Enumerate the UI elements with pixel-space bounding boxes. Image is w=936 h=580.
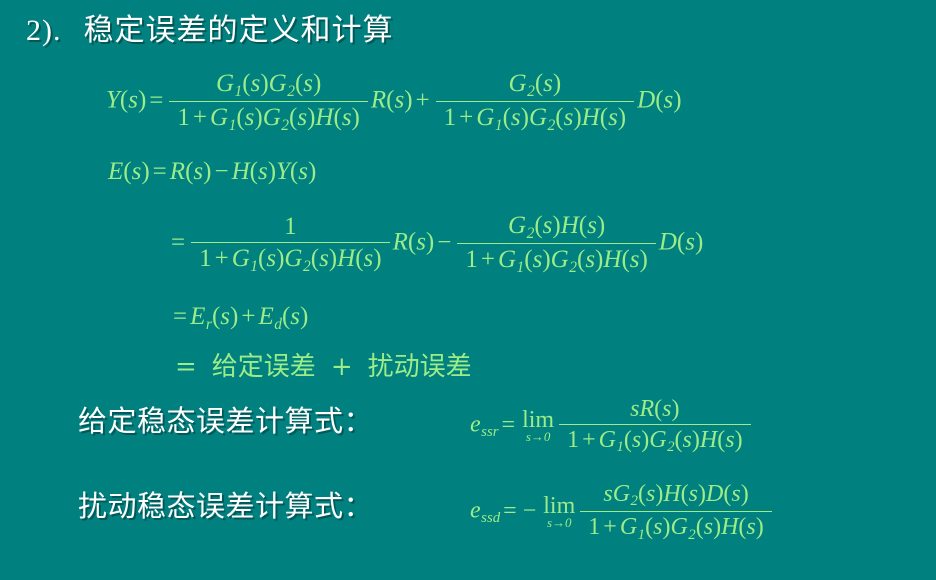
lparen: ( <box>638 481 646 507</box>
g-glyph: G <box>649 427 666 453</box>
eq1-fraction-2: G2(s)1+G1(s)G2(s)H(s) <box>436 70 634 134</box>
eq4-Er: E <box>190 303 205 330</box>
rparen: ) <box>552 212 560 239</box>
rparen: ) <box>542 246 550 273</box>
rparen: ) <box>352 104 360 131</box>
eq3-equals: = <box>168 229 188 257</box>
h-glyph: H <box>315 104 333 131</box>
lparen: ( <box>534 212 542 239</box>
label-reference-steady-state-error: 给定稳态误差计算式： <box>78 398 373 440</box>
subscript-2: 2 <box>688 527 695 543</box>
eq2-E: E <box>108 158 123 185</box>
eq3-fraction-2: G2(s)H(s)1+G1(s)G2(s)H(s) <box>457 212 655 276</box>
subscript-d: d <box>274 316 282 333</box>
subscript-1: 1 <box>495 117 503 134</box>
eq3-D: D <box>659 229 677 256</box>
g-glyph: G <box>216 70 234 97</box>
h-glyph: H <box>561 212 579 239</box>
digit-one: 1 <box>588 514 600 540</box>
eq7-denominator: 1+G1(s)G2(s)H(s) <box>580 512 771 543</box>
s-glyph: s <box>364 245 374 272</box>
eq3-numerator-2: G2(s)H(s) <box>457 212 655 244</box>
eq1-fraction-1: G1(s)G2(s)1+G1(s)G2(s)H(s) <box>169 70 367 134</box>
digit-one: 1 <box>177 104 190 131</box>
lparen: ( <box>681 481 689 507</box>
eq6-fraction: sR(s)1+G1(s)G2(s)H(s) <box>559 396 750 456</box>
equation-output-transfer: Y(s)=G1(s)G2(s)1+G1(s)G2(s)H(s)R(s)+G2(s… <box>106 70 682 134</box>
digit-one: 1 <box>444 104 457 131</box>
eq7-negative-sign: − <box>520 498 540 525</box>
s-glyph: s <box>662 396 671 422</box>
eq5-term-reference-error: 给定误差 <box>212 352 316 382</box>
eq7-e: e <box>470 498 481 524</box>
rparen: ) <box>692 427 700 453</box>
eq6-equals: = <box>499 412 519 439</box>
subscript-1: 1 <box>638 527 645 543</box>
eq1-denominator-2: 1+G1(s)G2(s)H(s) <box>436 102 634 134</box>
plus-sign: + <box>579 427 599 454</box>
rparen: ) <box>640 246 648 273</box>
rparen: ) <box>553 70 561 97</box>
rparen: ) <box>573 104 581 131</box>
eq6-e: e <box>470 412 481 438</box>
s-glyph: s <box>543 70 553 97</box>
rparen: ) <box>203 158 211 185</box>
eq2-Y: Y <box>276 158 290 185</box>
s-glyph: s <box>664 87 674 114</box>
lparen: ( <box>555 104 563 131</box>
s-glyph: s <box>394 87 404 114</box>
lparen: ( <box>621 246 629 273</box>
d-glyph: D <box>706 481 723 507</box>
g-glyph: G <box>508 212 526 239</box>
eq7-numerator: sG2(s)H(s)D(s) <box>580 481 771 512</box>
lparen: ( <box>579 212 587 239</box>
g-glyph: G <box>551 246 569 273</box>
equation-error-expanded: =11+G1(s)G2(s)H(s)R(s)−G2(s)H(s)1+G1(s)G… <box>168 212 703 276</box>
subscript-2: 2 <box>631 493 638 509</box>
s-glyph: s <box>731 481 740 507</box>
r-glyph: R <box>640 396 655 422</box>
eq7-limit-operator: lims→0 <box>543 494 575 530</box>
rparen: ) <box>404 87 412 114</box>
rparen: ) <box>300 303 308 330</box>
lparen: ( <box>236 104 244 131</box>
s-glyph: s <box>245 104 255 131</box>
h-glyph: H <box>337 245 355 272</box>
lparen: ( <box>408 229 416 256</box>
h-glyph: H <box>721 514 738 540</box>
s-glyph: s <box>632 427 641 453</box>
g-glyph: G <box>613 481 630 507</box>
lparen: ( <box>355 245 363 272</box>
eq1-s: s <box>128 87 138 114</box>
eq1-numerator-1: G1(s)G2(s) <box>169 70 367 102</box>
eq7-equals: = <box>500 498 520 525</box>
lparen: ( <box>242 70 250 97</box>
eq5-equals: = <box>172 352 200 382</box>
eq2-H: H <box>232 158 250 185</box>
eq4-plus: + <box>238 303 258 331</box>
s-glyph: s <box>630 246 640 273</box>
s-glyph: s <box>258 158 268 185</box>
rparen: ) <box>230 303 238 330</box>
s-glyph: s <box>298 158 308 185</box>
eq3-denominator-1: 1+G1(s)G2(s)H(s) <box>191 243 389 275</box>
eq3-denominator-2: 1+G1(s)G2(s)H(s) <box>457 244 655 276</box>
g-glyph: G <box>263 104 281 131</box>
lim-subscript: s→0 <box>543 517 575 530</box>
slide-canvas: 2).稳定误差的定义和计算 Y(s)=G1(s)G2(s)1+G1(s)G2(s… <box>0 0 936 580</box>
s-glyph: s <box>342 104 352 131</box>
rparen: ) <box>672 396 680 422</box>
s-glyph: s <box>725 427 734 453</box>
eq5-plus: + <box>328 352 356 382</box>
rparen: ) <box>673 87 681 114</box>
lparen: ( <box>250 158 258 185</box>
eq1-numerator-2: G2(s) <box>436 70 634 102</box>
lparen: ( <box>677 229 685 256</box>
rparen: ) <box>373 245 381 272</box>
lparen: ( <box>311 245 319 272</box>
digit-one: 1 <box>465 246 478 273</box>
h-glyph: H <box>663 481 680 507</box>
subscript-2: 2 <box>527 83 535 100</box>
g-glyph: G <box>210 104 228 131</box>
eq1-R: R <box>371 87 386 114</box>
lparen: ( <box>535 70 543 97</box>
eq3-R: R <box>393 229 408 256</box>
lim-subscript: s→0 <box>522 431 554 444</box>
lparen: ( <box>333 104 341 131</box>
rparen: ) <box>254 104 262 131</box>
eq7-fraction: sG2(s)H(s)D(s)1+G1(s)G2(s)H(s) <box>580 481 771 543</box>
s-glyph: s <box>564 104 574 131</box>
g-glyph: G <box>599 427 616 453</box>
equation-essr: essr=lims→0sR(s)1+G1(s)G2(s)H(s) <box>470 396 754 456</box>
subscript-2: 2 <box>569 259 577 276</box>
eq6-denominator: 1+G1(s)G2(s)H(s) <box>559 425 750 456</box>
subscript-2: 2 <box>303 258 311 275</box>
s-glyph: s <box>646 481 655 507</box>
s-glyph: s <box>683 427 692 453</box>
s-glyph: s <box>290 303 300 330</box>
equation-error-definition: E(s)=R(s)−H(s)Y(s) <box>108 158 316 186</box>
equation-error-sum-chinese: =给定误差+扰动误差 <box>172 346 472 383</box>
s-glyph: s <box>603 481 612 507</box>
eq1-D: D <box>637 87 655 114</box>
digit-one: 1 <box>199 245 212 272</box>
subscript-1: 1 <box>250 258 258 275</box>
g-glyph: G <box>232 245 250 272</box>
eq1-denominator-1: 1+G1(s)G2(s)H(s) <box>169 102 367 134</box>
rparen: ) <box>141 158 149 185</box>
s-glyph: s <box>585 246 595 273</box>
eq5-term-disturbance-error: 扰动误差 <box>368 352 472 382</box>
rparen: ) <box>521 104 529 131</box>
eq3-minus: − <box>434 229 454 257</box>
lparen: ( <box>675 427 683 453</box>
rparen: ) <box>308 158 316 185</box>
rparen: ) <box>695 229 703 256</box>
eq6-limit-operator: lims→0 <box>522 408 554 444</box>
plus-sign: + <box>456 104 476 132</box>
s-glyph: s <box>303 70 313 97</box>
eq2-R: R <box>170 158 185 185</box>
s-glyph: s <box>746 514 755 540</box>
g-glyph: G <box>670 514 687 540</box>
h-glyph: H <box>700 427 717 453</box>
rparen: ) <box>329 245 337 272</box>
subscript-ssr: ssr <box>481 424 498 440</box>
label-disturbance-steady-state-error: 扰动稳态误差计算式： <box>78 483 373 525</box>
plus-sign: + <box>600 514 620 541</box>
rparen: ) <box>756 514 764 540</box>
lparen: ( <box>655 87 663 114</box>
eq1-lhs-Y: Y <box>106 87 120 114</box>
lparen: ( <box>503 104 511 131</box>
eq3-numerator-1: 1 <box>191 213 389 243</box>
subscript-2: 2 <box>667 439 674 455</box>
rparen: ) <box>260 70 268 97</box>
eq4-Ed: E <box>258 303 273 330</box>
eq1-rparen: ) <box>138 87 146 114</box>
s-glyph: s <box>685 229 695 256</box>
s-glyph: s <box>608 104 618 131</box>
lparen: ( <box>290 158 298 185</box>
title-text: 稳定误差的定义和计算 <box>84 13 394 48</box>
rparen: ) <box>713 514 721 540</box>
eq3-fraction-1: 11+G1(s)G2(s)H(s) <box>191 213 389 275</box>
s-glyph: s <box>587 212 597 239</box>
s-glyph: s <box>132 158 142 185</box>
rparen: ) <box>597 212 605 239</box>
s-glyph: s <box>319 245 329 272</box>
h-glyph: H <box>582 104 600 131</box>
s-glyph: s <box>220 303 230 330</box>
s-glyph: s <box>511 104 521 131</box>
lparen: ( <box>645 514 653 540</box>
s-glyph: s <box>630 396 639 422</box>
plus-sign: + <box>190 104 210 132</box>
h-glyph: H <box>603 246 621 273</box>
g-glyph: G <box>284 245 302 272</box>
rparen: ) <box>698 481 706 507</box>
s-glyph: s <box>533 246 543 273</box>
lparen: ( <box>654 396 662 422</box>
g-glyph: G <box>529 104 547 131</box>
g-glyph: G <box>269 70 287 97</box>
rparen: ) <box>426 229 434 256</box>
g-glyph: G <box>476 104 494 131</box>
lparen: ( <box>696 514 704 540</box>
rparen: ) <box>268 158 276 185</box>
eq2-minus: − <box>211 158 231 186</box>
subscript-2: 2 <box>281 117 289 134</box>
subscript-ssd: ssd <box>481 510 500 526</box>
s-glyph: s <box>689 481 698 507</box>
s-glyph: s <box>543 212 553 239</box>
subscript-1: 1 <box>616 439 623 455</box>
g-glyph: G <box>620 514 637 540</box>
eq2-equals: = <box>150 158 170 186</box>
g-glyph: G <box>509 70 527 97</box>
page-title: 2).稳定误差的定义和计算 <box>26 12 394 50</box>
s-glyph: s <box>416 229 426 256</box>
subscript-2: 2 <box>287 83 295 100</box>
eq1-lparen: ( <box>120 87 128 114</box>
lparen: ( <box>600 104 608 131</box>
title-number: 2). <box>26 14 62 47</box>
eq1-plus: + <box>413 87 433 115</box>
s-glyph: s <box>266 245 276 272</box>
lparen: ( <box>524 246 532 273</box>
g-glyph: G <box>498 246 516 273</box>
s-glyph: s <box>193 158 203 185</box>
rparen: ) <box>313 70 321 97</box>
s-glyph: s <box>251 70 261 97</box>
s-glyph: s <box>297 104 307 131</box>
lparen: ( <box>123 158 131 185</box>
rparen: ) <box>735 427 743 453</box>
equation-essd: essd=−lims→0sG2(s)H(s)D(s)1+G1(s)G2(s)H(… <box>470 481 775 543</box>
equation-error-sum: =Er(s)+Ed(s) <box>170 303 308 334</box>
eq1-equals: = <box>146 87 166 115</box>
eq4-equals: = <box>170 303 190 331</box>
lparen: ( <box>624 427 632 453</box>
plus-sign: + <box>212 245 232 273</box>
rparen: ) <box>618 104 626 131</box>
digit-one: 1 <box>567 427 579 453</box>
eq6-numerator: sR(s) <box>559 396 750 425</box>
plus-sign: + <box>478 246 498 274</box>
rparen: ) <box>741 481 749 507</box>
s-glyph: s <box>704 514 713 540</box>
